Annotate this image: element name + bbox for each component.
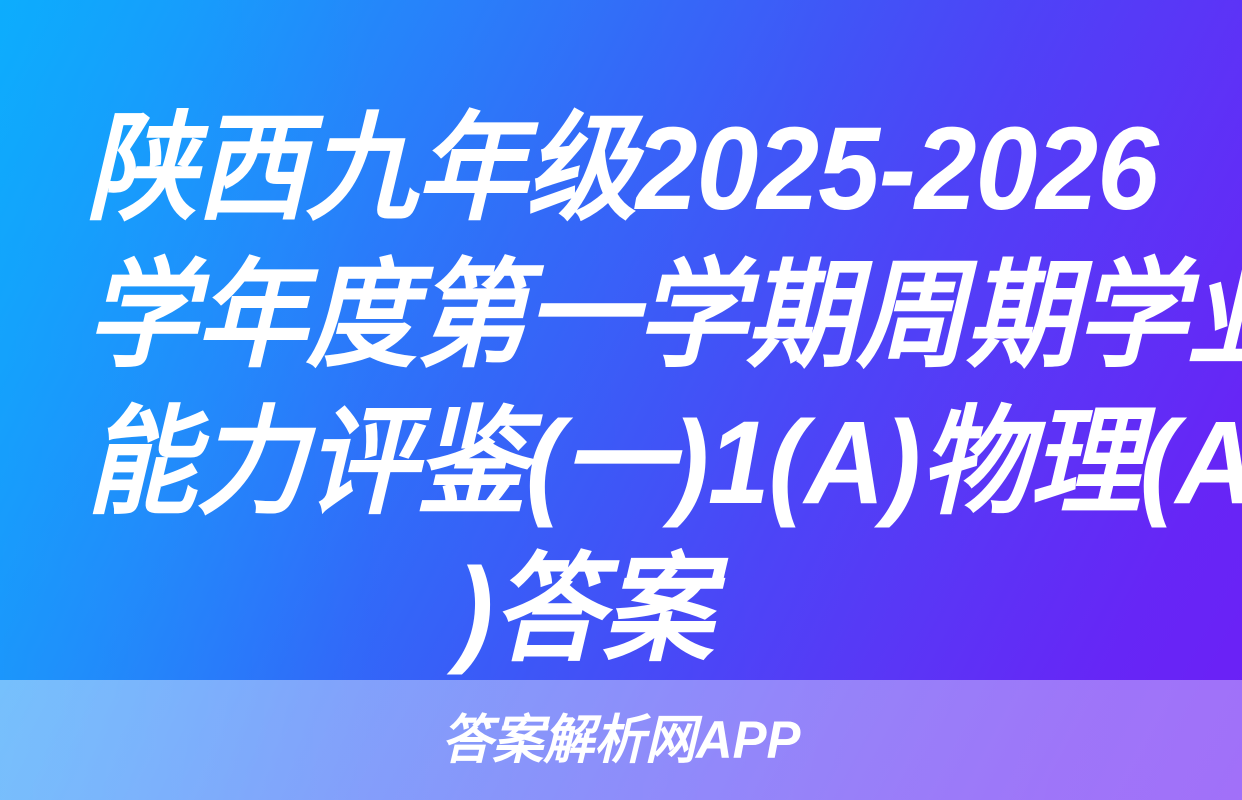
- title-line-4: )答案: [86, 537, 1092, 684]
- title-line-1: 陕西九年级2025-2026: [86, 96, 1092, 243]
- title-line-3: 能力评鉴(一)1(A)物理(A: [86, 390, 1092, 537]
- title-line-2: 学年度第一学期周期学业: [86, 243, 1092, 390]
- footer-brand-bar: 答案解析网APP: [0, 680, 1242, 800]
- footer-brand-label: 答案解析网APP: [441, 714, 800, 767]
- title-block: 陕西九年级2025-2026 学年度第一学期周期学业 能力评鉴(一)1(A)物理…: [0, 96, 1242, 684]
- promo-cover-card: 陕西九年级2025-2026 学年度第一学期周期学业 能力评鉴(一)1(A)物理…: [0, 0, 1242, 800]
